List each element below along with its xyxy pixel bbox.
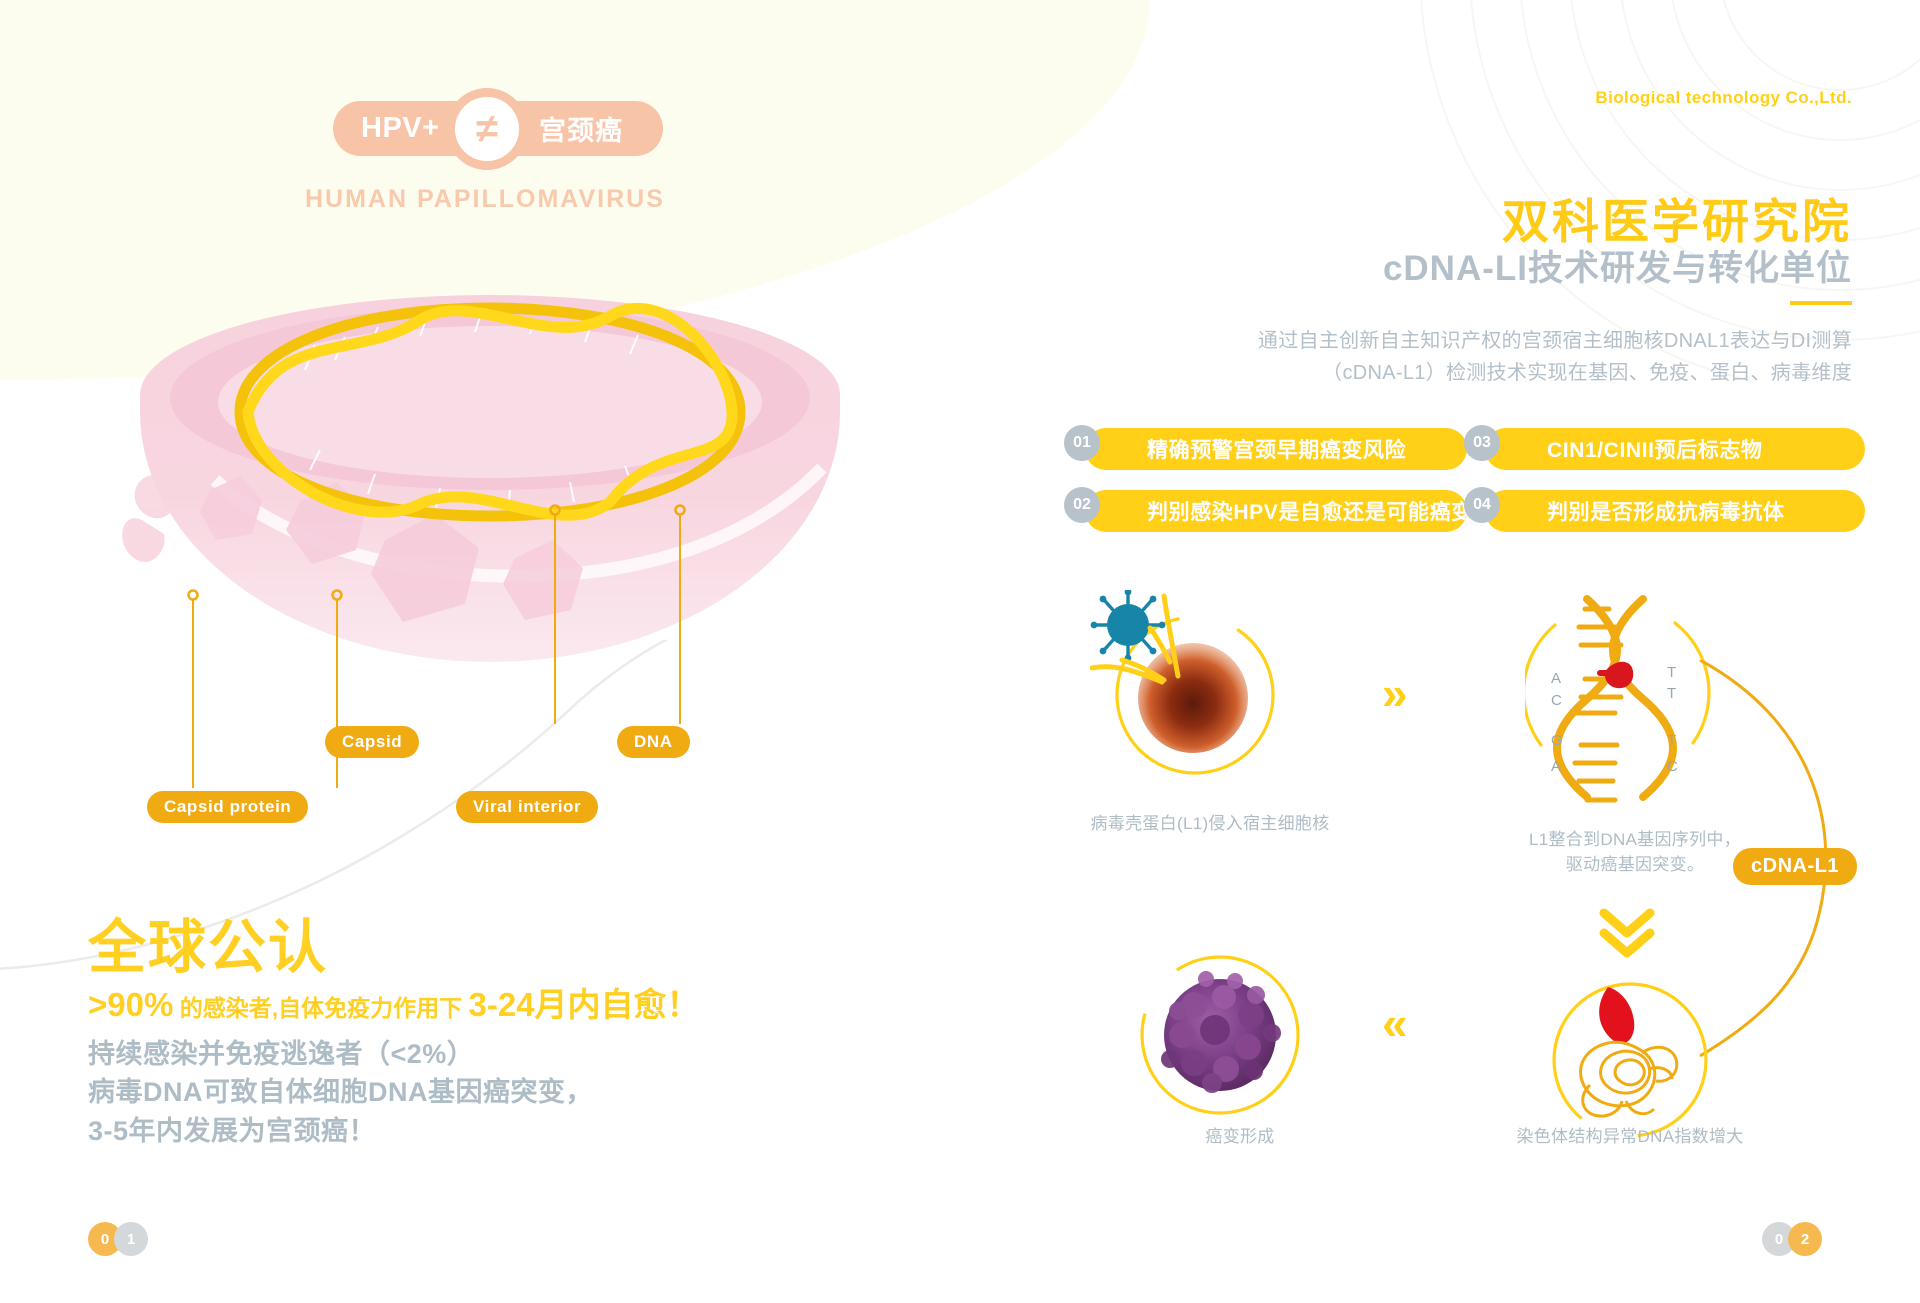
cell-nucleus — [1138, 643, 1248, 753]
step1-virus-entering-cell — [1090, 590, 1290, 790]
feature-label-01: 精确预警宫颈早期癌变风险 — [1147, 434, 1406, 464]
svg-text:G: G — [1551, 732, 1563, 749]
feature-badge-04[interactable]: 判别是否形成抗病毒抗体 — [1485, 490, 1865, 532]
feature-label-02: 判别感染HPV是自愈还是可能癌变 — [1147, 496, 1473, 526]
chromosome-red-arm — [1599, 987, 1634, 1044]
company-name: Biological technology Co.,Ltd. — [1595, 88, 1852, 108]
feature-badge-02[interactable]: 判别感染HPV是自愈还是可能癌变 — [1085, 490, 1467, 532]
arrow-right-icon: » — [1382, 670, 1402, 716]
institute-subtitle: cDNA-LI技术研发与转化单位 — [1383, 240, 1852, 291]
page-number-left: 0 1 — [88, 1222, 180, 1256]
cervical-cancer-label: 宫颈癌 — [539, 109, 623, 148]
svg-text:A: A — [1551, 670, 1561, 687]
page-number-right: 0 2 — [1762, 1222, 1854, 1256]
svg-text:A: A — [1551, 758, 1561, 775]
callout-capsid: Capsid — [325, 726, 419, 758]
page-right-digit-2: 2 — [1788, 1222, 1822, 1256]
hpv-subtitle: HUMAN PAPILLOMAVIRUS — [305, 185, 665, 214]
feature-badge-03[interactable]: CIN1/CINII预后标志物 — [1485, 428, 1865, 470]
persistent-infection-paragraph: 持续感染并免疫逃逸者（<2%） 病毒DNA可致自体细胞DNA基因癌突变， 3-5… — [88, 1035, 593, 1150]
stat-middle-text: 的感染者,自体免疫力作用下 — [173, 995, 468, 1021]
feature-label-04: 判别是否形成抗病毒抗体 — [1547, 496, 1785, 526]
chromosome-tangled-mass — [1581, 1042, 1677, 1116]
arrow-left-icon: « — [1382, 1000, 1402, 1046]
title-divider — [1790, 301, 1852, 305]
feature-number-01: 01 — [1064, 425, 1100, 461]
feature-badge-01[interactable]: 精确预警宫颈早期癌变风险 — [1085, 428, 1467, 470]
callout-dna: DNA — [617, 726, 690, 758]
step3-caption: 癌变形成 — [1060, 1125, 1420, 1150]
page-left-digit-2: 1 — [114, 1222, 148, 1256]
feature-number-02: 02 — [1064, 487, 1100, 523]
feature-number-03: 03 — [1464, 425, 1500, 461]
svg-text:C: C — [1551, 692, 1562, 709]
step3-tumor-formation — [1120, 935, 1320, 1135]
feature-label-03: CIN1/CINII预后标志物 — [1547, 434, 1763, 464]
step1-caption: 病毒壳蛋白(L1)侵入宿主细胞核 — [1000, 812, 1420, 837]
callout-capsid-protein: Capsid protein — [147, 791, 308, 823]
stat-duration: 3-24月内自愈！ — [469, 986, 700, 1023]
feature-number-04: 04 — [1464, 487, 1500, 523]
infographic-page: HPV+ 宫颈癌 ≠ HUMAN PAPILLOMAVIRUS — [0, 0, 1920, 1303]
cdna-l1-tag: cDNA-L1 — [1733, 848, 1857, 885]
description-line-1: 通过自主创新自主知识产权的宫颈宿主细胞核DNAL1表达与DI测算 — [1258, 325, 1852, 357]
step4-caption: 染色体结构异常DNA指数增大 — [1430, 1125, 1830, 1150]
paragraph-line-3: 3-5年内发展为宫颈癌！ — [88, 1112, 593, 1150]
global-consensus-title: 全球公认 — [88, 900, 328, 984]
callout-leader-lines — [120, 290, 860, 810]
callout-viral-interior: Viral interior — [456, 791, 598, 823]
paragraph-line-2: 病毒DNA可致自体细胞DNA基因癌突变， — [88, 1073, 593, 1111]
self-healing-stat: >90% 的感染者,自体免疫力作用下 3-24月内自愈！ — [88, 978, 700, 1026]
arrow-down-icon — [1592, 905, 1662, 963]
institute-description: 通过自主创新自主知识产权的宫颈宿主细胞核DNAL1表达与DI测算 （cDNA-L… — [1258, 325, 1852, 390]
paragraph-line-1: 持续感染并免疫逃逸者（<2%） — [88, 1035, 593, 1073]
not-equal-icon: ≠ — [446, 88, 528, 170]
virus-particle-icon — [1091, 590, 1166, 661]
description-line-2: （cDNA-L1）检测技术实现在基因、免疫、蛋白、病毒维度 — [1258, 357, 1852, 389]
not-equal-glyph: ≠ — [476, 109, 498, 149]
stat-percentage: >90% — [88, 986, 173, 1023]
